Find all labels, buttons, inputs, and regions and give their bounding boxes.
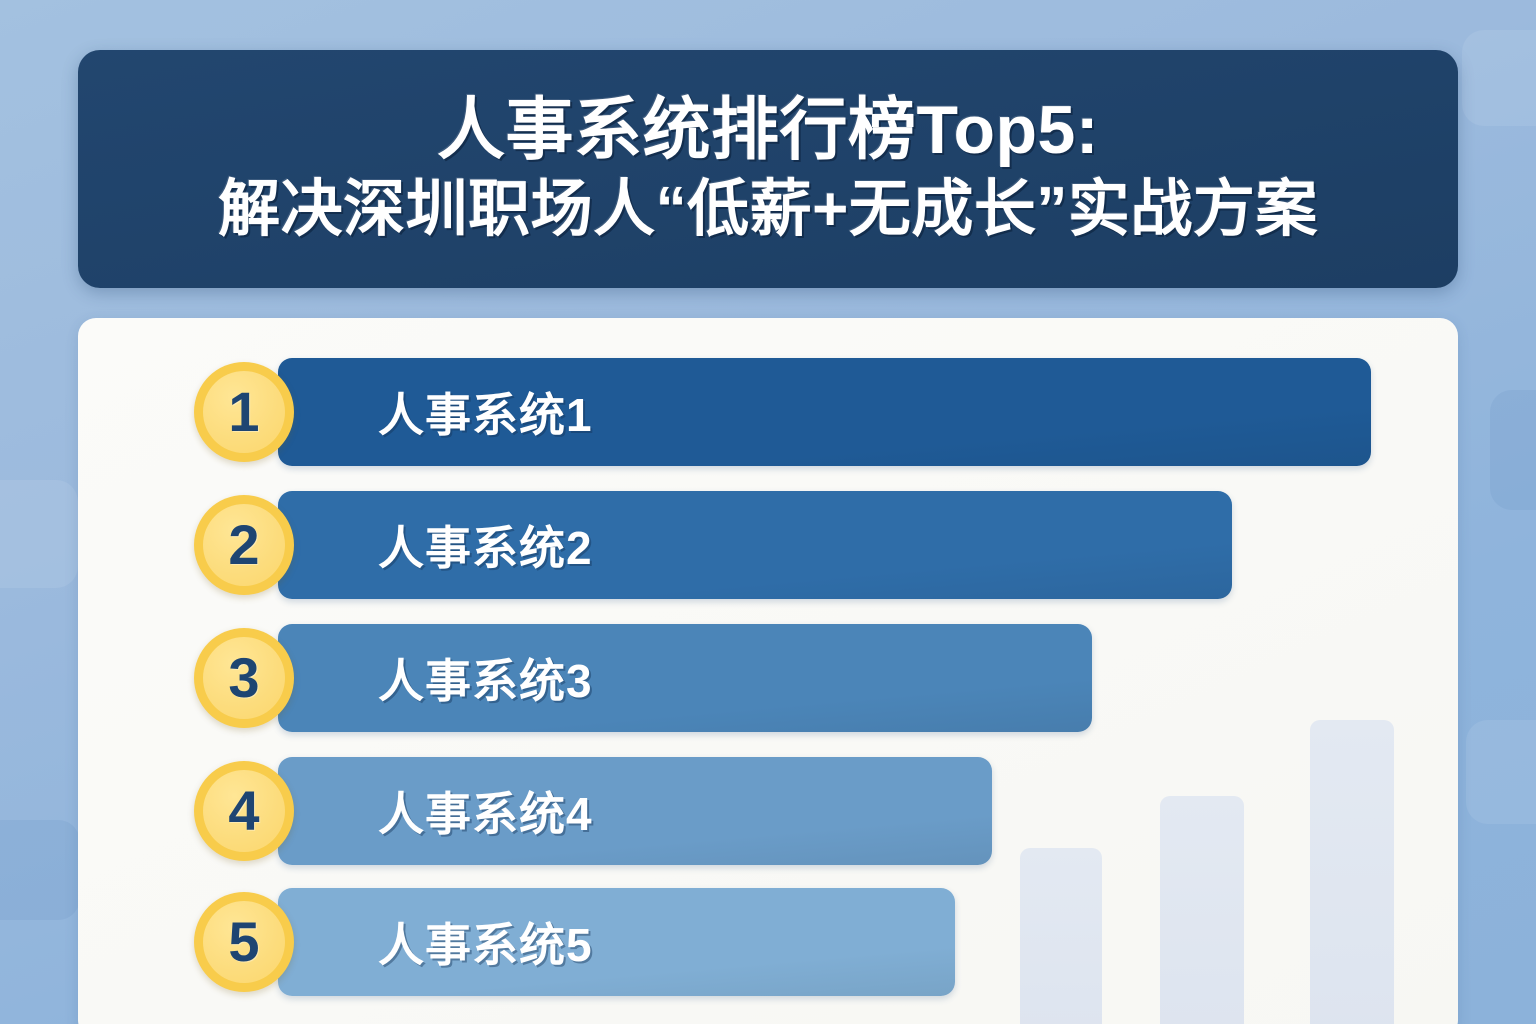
ranking-row[interactable]: 人事系统33 xyxy=(78,624,1458,732)
ranking-row[interactable]: 人事系统22 xyxy=(78,491,1458,599)
ranking-item-label: 人事系统3 xyxy=(378,645,593,711)
rank-number: 1 xyxy=(228,384,259,440)
decorative-square xyxy=(1462,30,1536,126)
ranking-item-label: 人事系统1 xyxy=(378,379,593,445)
rank-badge: 2 xyxy=(194,495,294,595)
ranking-item-label: 人事系统2 xyxy=(378,512,593,578)
ranking-bar: 人事系统2 xyxy=(278,491,1232,599)
rank-badge: 3 xyxy=(194,628,294,728)
header-card: 人事系统排行榜Top5: 解决深圳职场人“低薪+无成长”实战方案 xyxy=(78,50,1458,288)
decorative-square xyxy=(1466,720,1536,824)
ranking-item-label: 人事系统5 xyxy=(378,909,593,975)
page-title-line-1: 人事系统排行榜Top5: xyxy=(437,90,1099,170)
decorative-square xyxy=(0,820,80,920)
rank-badge: 1 xyxy=(194,362,294,462)
ranking-row[interactable]: 人事系统11 xyxy=(78,358,1458,466)
ranking-row[interactable]: 人事系统44 xyxy=(78,757,1458,865)
rank-number: 2 xyxy=(228,517,259,573)
poster-root: 人事系统排行榜Top5: 解决深圳职场人“低薪+无成长”实战方案 人事系统11人… xyxy=(0,0,1536,1024)
ranking-bar: 人事系统4 xyxy=(278,757,992,865)
ranking-list: 人事系统11人事系统22人事系统33人事系统44人事系统55 xyxy=(78,318,1458,1024)
rank-number: 5 xyxy=(228,914,259,970)
ranking-chart-card: 人事系统11人事系统22人事系统33人事系统44人事系统55 xyxy=(78,318,1458,1024)
rank-number: 4 xyxy=(228,783,259,839)
decorative-square xyxy=(0,480,78,588)
ranking-row[interactable]: 人事系统55 xyxy=(78,888,1458,996)
page-title-line-2: 解决深圳职场人“低薪+无成长”实战方案 xyxy=(218,172,1318,248)
rank-badge: 5 xyxy=(194,892,294,992)
rank-number: 3 xyxy=(228,650,259,706)
ranking-bar: 人事系统3 xyxy=(278,624,1092,732)
rank-badge: 4 xyxy=(194,761,294,861)
ranking-item-label: 人事系统4 xyxy=(378,778,593,844)
decorative-square xyxy=(1490,390,1536,510)
ranking-bar: 人事系统5 xyxy=(278,888,955,996)
ranking-bar: 人事系统1 xyxy=(278,358,1371,466)
